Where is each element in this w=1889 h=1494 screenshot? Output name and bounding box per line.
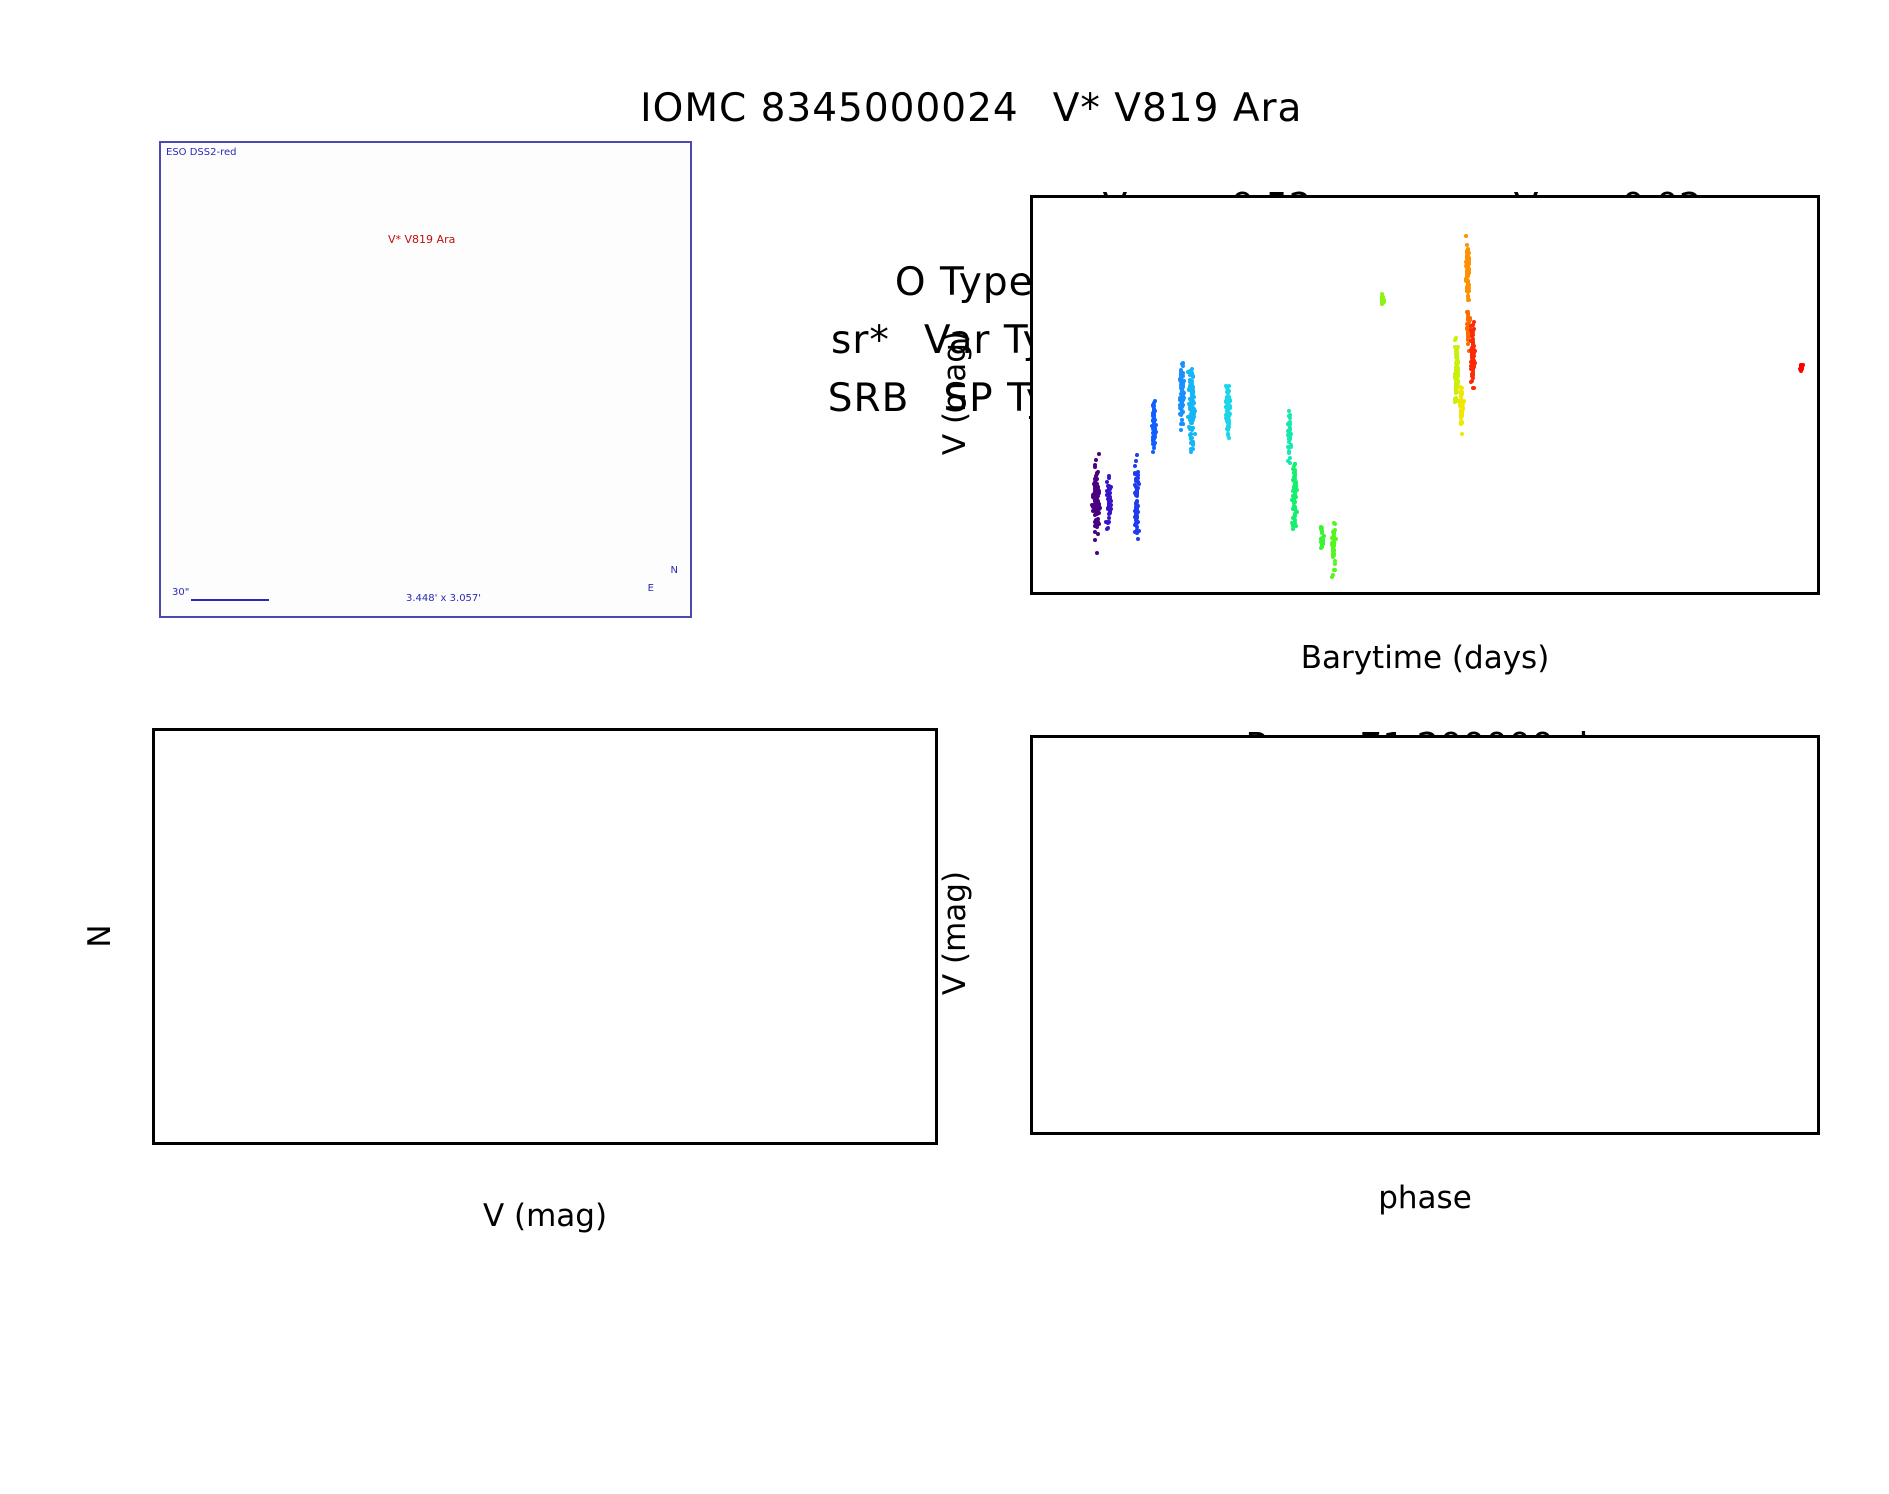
lightcurve-point <box>1133 464 1137 468</box>
lightcurve-point <box>1294 509 1298 513</box>
lightcurve-point <box>1470 374 1474 378</box>
lightcurve-point <box>1152 419 1156 423</box>
compass-north-label: N <box>671 565 678 576</box>
histogram-yaxis-title: N <box>82 876 118 996</box>
phase-panel: Pvsx = 71.200000 days phase V (mag) <box>1030 735 1820 1135</box>
lightcurve-point <box>1472 386 1476 390</box>
lightcurve-point <box>1454 370 1458 374</box>
lightcurve-point <box>1471 344 1475 348</box>
lightcurve-point <box>1466 268 1470 272</box>
lightcurve-point <box>1460 404 1464 408</box>
lightcurve-point <box>1287 440 1291 444</box>
lightcurve-point <box>1332 552 1336 556</box>
lightcurve-point <box>1459 420 1463 424</box>
lightcurve-point <box>1135 499 1139 503</box>
lightcurve-point <box>1181 396 1185 400</box>
lightcurve-panel: Vmed = 9.52 mag <err_V> = 0.02 mag Baryt… <box>1030 195 1820 595</box>
lightcurve-point <box>1454 380 1458 384</box>
lightcurve-point <box>1453 397 1457 401</box>
lightcurve-point <box>1190 426 1194 430</box>
lightcurve-point <box>1320 531 1324 535</box>
lightcurve-point <box>1293 487 1297 491</box>
lightcurve-point <box>1466 252 1470 256</box>
lightcurve-point <box>1135 531 1139 535</box>
lightcurve-point <box>1191 374 1195 378</box>
lightcurve-point <box>1179 371 1183 375</box>
lightcurve-point <box>1472 327 1476 331</box>
lightcurve-point <box>1189 447 1193 451</box>
sky-survey-image: ESO DSS2-red V* V819 Ara 30" 3.448' x 3.… <box>159 141 692 618</box>
scale-bar <box>191 599 269 601</box>
scale-label: 30" <box>172 587 189 598</box>
lightcurve-point <box>1107 516 1111 520</box>
lightcurve-point <box>1135 491 1139 495</box>
lightcurve-point <box>1464 264 1468 268</box>
target-name-label: V* V819 Ara <box>388 233 455 246</box>
histogram-panel: V (mag) N <box>152 728 938 1145</box>
lightcurve-point <box>1107 494 1111 498</box>
lightcurve-point <box>1466 284 1470 288</box>
lightcurve-point <box>1331 573 1335 577</box>
histogram-xaxis-title: V (mag) <box>152 1198 938 1234</box>
phase-xaxis-title: phase <box>1030 1180 1820 1216</box>
survey-label: ESO DSS2-red <box>166 147 236 158</box>
lightcurve-point <box>1467 256 1471 260</box>
lightcurve-point <box>1471 348 1475 352</box>
field-size-label: 3.448' x 3.057' <box>406 593 481 604</box>
lightcurve-point <box>1191 410 1195 414</box>
lightcurve-point <box>1134 485 1138 489</box>
lightcurve-point <box>1189 441 1193 445</box>
lightcurve-point <box>1105 480 1109 484</box>
lightcurve-point <box>1151 403 1155 407</box>
lightcurve-point <box>1189 403 1193 407</box>
lightcurve-point <box>1226 409 1230 413</box>
lightcurve-point <box>1332 548 1336 552</box>
lightcurve-point <box>1181 422 1185 426</box>
lightcurve-point <box>1136 537 1140 541</box>
lightcurve-point <box>1096 532 1100 536</box>
lightcurve-point <box>1193 432 1197 436</box>
otype-value: sr* <box>831 318 890 363</box>
lightcurve-point <box>1180 389 1184 393</box>
lightcurve-point <box>1471 353 1475 357</box>
lightcurve-point <box>1095 510 1099 514</box>
lightcurve-point <box>1107 474 1111 478</box>
lightcurve-yaxis-title: V (mag) <box>937 293 973 493</box>
lightcurve-point <box>1225 386 1229 390</box>
lightcurve-point <box>1096 517 1100 521</box>
star-name: V* V819 Ara <box>1053 86 1303 131</box>
phase-yaxis-title: V (mag) <box>937 833 973 1033</box>
lightcurve-point <box>1460 411 1464 415</box>
lightcurve-point <box>1320 536 1324 540</box>
lightcurve-point <box>1456 345 1460 349</box>
lightcurve-point <box>1135 453 1139 457</box>
lightcurve-xaxis-title: Barytime (days) <box>1030 640 1820 676</box>
iomc-id: IOMC 8345000024 <box>640 86 1019 131</box>
histogram-axes-frame <box>152 728 938 1145</box>
lightcurve-point <box>1333 568 1337 572</box>
lightcurve-point <box>1466 273 1470 277</box>
lightcurve-point <box>1152 443 1156 447</box>
phase-axes-frame <box>1030 735 1820 1135</box>
lightcurve-point <box>1460 386 1464 390</box>
lightcurve-point <box>1152 423 1156 427</box>
lightcurve-point <box>1382 300 1386 304</box>
lightcurve-point <box>1188 433 1192 437</box>
lightcurve-point <box>1151 450 1155 454</box>
lightcurve-point <box>1333 522 1337 526</box>
vartype-value: SRB <box>828 376 910 421</box>
lightcurve-point <box>1135 514 1139 518</box>
lightcurve-point <box>1294 495 1298 499</box>
compass-east-label: E <box>648 583 654 594</box>
lightcurve-point <box>1191 389 1195 393</box>
sky-image-canvas <box>161 143 692 618</box>
lightcurve-point <box>1226 424 1230 428</box>
lightcurve-point <box>1466 295 1470 299</box>
lightcurve-axes-frame <box>1030 195 1820 595</box>
